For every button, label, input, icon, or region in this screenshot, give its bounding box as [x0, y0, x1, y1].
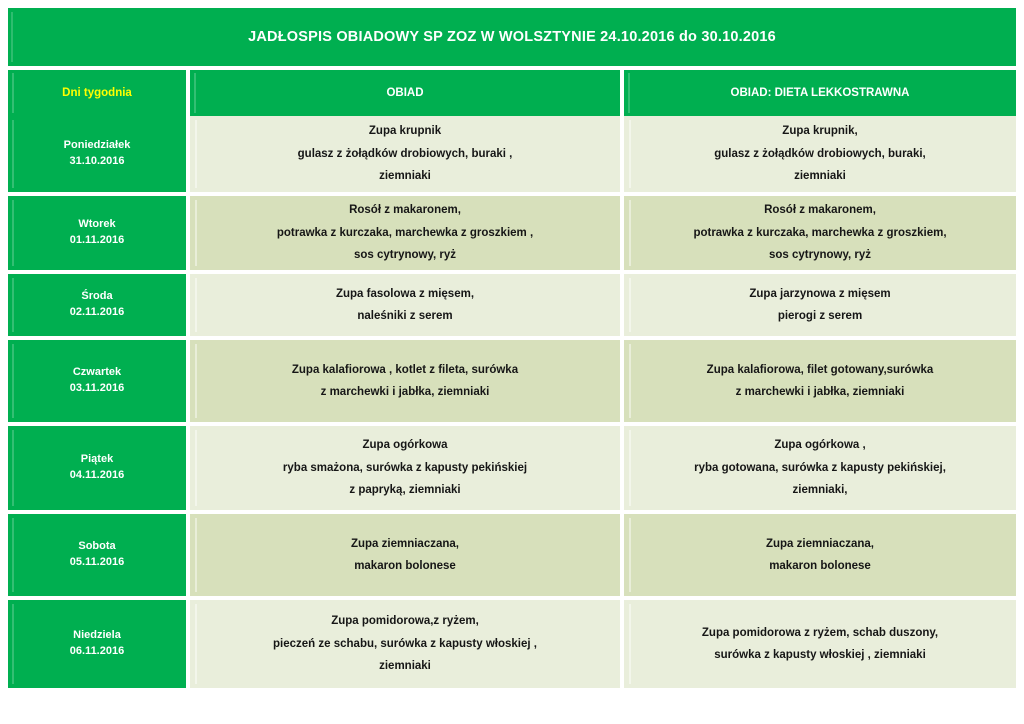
table-row: Czwartek03.11.2016Zupa kalafiorowa , kot… — [8, 340, 1016, 422]
meal-line: sos cytrynowy, ryż — [190, 244, 620, 266]
diet-cell: Zupa jarzynowa z mięsempierogi z serem — [624, 274, 1016, 336]
meal-line: ryba gotowana, surówka z kapusty pekińsk… — [624, 457, 1016, 479]
meal-line: potrawka z kurczaka, marchewka z groszki… — [190, 222, 620, 244]
table-row: Sobota05.11.2016Zupa ziemniaczana,makaro… — [8, 514, 1016, 596]
meal-line: Zupa kalafiorowa , kotlet z fileta, suró… — [190, 359, 620, 381]
day-name: Wtorek — [8, 217, 186, 233]
table-header: Dni tygodnia OBIAD OBIAD: DIETA LEKKOSTR… — [8, 70, 1016, 116]
menu-page: JADŁOSPIS OBIADOWY SP ZOZ W WOLSZTYNIE 2… — [0, 0, 1024, 724]
meal-line: z marchewki i jabłka, ziemniaki — [190, 381, 620, 403]
meal-line: ryba smażona, surówka z kapusty pekiński… — [190, 457, 620, 479]
meal-line: z marchewki i jabłka, ziemniaki — [624, 381, 1016, 403]
meal-line: potrawka z kurczaka, marchewka z groszki… — [624, 222, 1016, 244]
day-cell: Wtorek01.11.2016 — [8, 196, 186, 270]
day-cell: Poniedziałek31.10.2016 — [8, 116, 186, 192]
lunch-cell: Rosół z makaronem,potrawka z kurczaka, m… — [190, 196, 620, 270]
day-name: Sobota — [8, 539, 186, 555]
table-row: Wtorek01.11.2016Rosół z makaronem,potraw… — [8, 196, 1016, 270]
lunch-cell: Zupa ogórkowaryba smażona, surówka z kap… — [190, 426, 620, 510]
lunch-cell: Zupa krupnikgulasz z żołądków drobiowych… — [190, 116, 620, 192]
lunch-cell: Zupa ziemniaczana,makaron bolonese — [190, 514, 620, 596]
day-name: Poniedziałek — [8, 138, 186, 154]
meal-line: Zupa ziemniaczana, — [190, 533, 620, 555]
meal-line: ziemniaki — [190, 655, 620, 677]
meal-line: Zupa fasolowa z mięsem, — [190, 283, 620, 305]
day-date: 31.10.2016 — [8, 154, 186, 170]
diet-cell: Zupa kalafiorowa, filet gotowany,surówka… — [624, 340, 1016, 422]
lunch-cell: Zupa pomidorowa,z ryżem,pieczeń ze schab… — [190, 600, 620, 688]
meal-line: Zupa ogórkowa , — [624, 434, 1016, 456]
meal-line: Zupa pomidorowa,z ryżem, — [190, 610, 620, 632]
day-name: Niedziela — [8, 628, 186, 644]
meal-line: ziemniaki — [190, 165, 620, 187]
day-name: Piątek — [8, 452, 186, 468]
meal-line: gulasz z żołądków drobiowych, buraki , — [190, 143, 620, 165]
meal-line: pierogi z serem — [624, 305, 1016, 327]
day-date: 01.11.2016 — [8, 233, 186, 249]
lunch-cell: Zupa fasolowa z mięsem,naleśniki z serem — [190, 274, 620, 336]
table-row: Środa02.11.2016Zupa fasolowa z mięsem,na… — [8, 274, 1016, 336]
diet-cell: Zupa pomidorowa z ryżem, schab duszony,s… — [624, 600, 1016, 688]
meal-line: Zupa kalafiorowa, filet gotowany,surówka — [624, 359, 1016, 381]
meal-line: Zupa krupnik, — [624, 120, 1016, 142]
day-cell: Piątek04.11.2016 — [8, 426, 186, 510]
weekly-menu-table: Dni tygodnia OBIAD OBIAD: DIETA LEKKOSTR… — [8, 70, 1016, 688]
day-cell: Niedziela06.11.2016 — [8, 600, 186, 688]
meal-line: makaron bolonese — [190, 555, 620, 577]
meal-line: Zupa krupnik — [190, 120, 620, 142]
column-header-diet: OBIAD: DIETA LEKKOSTRAWNA — [624, 70, 1016, 116]
table-row: Niedziela06.11.2016Zupa pomidorowa,z ryż… — [8, 600, 1016, 688]
table-row: Piątek04.11.2016Zupa ogórkowaryba smażon… — [8, 426, 1016, 510]
meal-line: naleśniki z serem — [190, 305, 620, 327]
meal-line: pieczeń ze schabu, surówka z kapusty wło… — [190, 633, 620, 655]
meal-line: makaron bolonese — [624, 555, 1016, 577]
diet-cell: Zupa ziemniaczana,makaron bolonese — [624, 514, 1016, 596]
meal-line: Zupa jarzynowa z mięsem — [624, 283, 1016, 305]
column-header-lunch: OBIAD — [190, 70, 620, 116]
meal-line: surówka z kapusty włoskiej , ziemniaki — [624, 644, 1016, 666]
meal-line: Zupa ziemniaczana, — [624, 533, 1016, 555]
day-date: 04.11.2016 — [8, 468, 186, 484]
table-body: Poniedziałek31.10.2016Zupa krupnikgulasz… — [8, 116, 1016, 688]
diet-cell: Zupa ogórkowa ,ryba gotowana, surówka z … — [624, 426, 1016, 510]
day-cell: Środa02.11.2016 — [8, 274, 186, 336]
meal-line: ziemniaki, — [624, 479, 1016, 501]
meal-line: Zupa pomidorowa z ryżem, schab duszony, — [624, 622, 1016, 644]
table-row: Poniedziałek31.10.2016Zupa krupnikgulasz… — [8, 116, 1016, 192]
diet-cell: Zupa krupnik,gulasz z żołądków drobiowyc… — [624, 116, 1016, 192]
meal-line: sos cytrynowy, ryż — [624, 244, 1016, 266]
day-name: Czwartek — [8, 365, 186, 381]
day-date: 06.11.2016 — [8, 644, 186, 660]
meal-line: ziemniaki — [624, 165, 1016, 187]
meal-line: gulasz z żołądków drobiowych, buraki, — [624, 143, 1016, 165]
header-row: Dni tygodnia OBIAD OBIAD: DIETA LEKKOSTR… — [8, 70, 1016, 116]
meal-line: z papryką, ziemniaki — [190, 479, 620, 501]
meal-line: Zupa ogórkowa — [190, 434, 620, 456]
day-name: Środa — [8, 289, 186, 305]
meal-line: Rosół z makaronem, — [190, 199, 620, 221]
day-cell: Sobota05.11.2016 — [8, 514, 186, 596]
diet-cell: Rosół z makaronem,potrawka z kurczaka, m… — [624, 196, 1016, 270]
day-date: 05.11.2016 — [8, 555, 186, 571]
day-date: 03.11.2016 — [8, 381, 186, 397]
day-date: 02.11.2016 — [8, 305, 186, 321]
day-cell: Czwartek03.11.2016 — [8, 340, 186, 422]
page-title-banner: JADŁOSPIS OBIADOWY SP ZOZ W WOLSZTYNIE 2… — [8, 8, 1016, 66]
meal-line: Rosół z makaronem, — [624, 199, 1016, 221]
column-header-days: Dni tygodnia — [8, 70, 186, 116]
lunch-cell: Zupa kalafiorowa , kotlet z fileta, suró… — [190, 340, 620, 422]
page-title: JADŁOSPIS OBIADOWY SP ZOZ W WOLSZTYNIE 2… — [248, 29, 776, 45]
